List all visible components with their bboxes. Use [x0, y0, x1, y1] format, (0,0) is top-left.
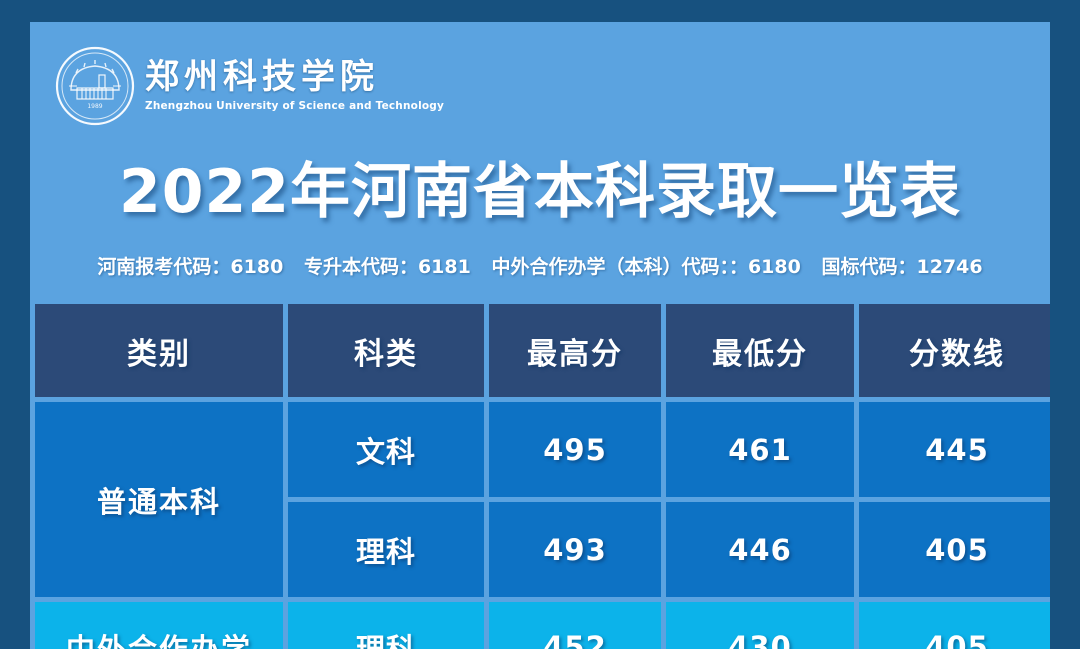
table-header-row: 类别 科类 最高分 最低分 分数线	[35, 304, 1050, 397]
poster-card: 1989 郑州科技学院 Zhengzhou University of Scie…	[30, 22, 1050, 649]
cell-subject: 理科	[288, 602, 484, 649]
brand-block: 1989 郑州科技学院 Zhengzhou University of Scie…	[55, 43, 444, 129]
cell-min-score: 461	[666, 402, 854, 497]
cell-category: 普通本科	[35, 402, 283, 597]
cell-max-score: 495	[489, 402, 661, 497]
page-title: 2022年河南省本科录取一览表	[30, 156, 1050, 228]
cell-min-score: 446	[666, 502, 854, 597]
university-name-en: Zhengzhou University of Science and Tech…	[145, 100, 444, 112]
brand-text: 郑州科技学院 Zhengzhou University of Science a…	[145, 60, 444, 112]
code-item-0: 河南报考代码：6180	[97, 256, 283, 278]
cell-score-line: 405	[859, 602, 1050, 649]
header-score-line: 分数线	[859, 304, 1050, 397]
cell-score-line: 445	[859, 402, 1050, 497]
cell-score-line: 405	[859, 502, 1050, 597]
university-name-cn: 郑州科技学院	[145, 60, 444, 96]
code-item-3: 国标代码：12746	[821, 256, 982, 278]
code-item-1: 专升本代码：6181	[304, 256, 471, 278]
university-seal-icon: 1989	[55, 46, 135, 126]
cell-min-score: 430	[666, 602, 854, 649]
header-max-score: 最高分	[489, 304, 661, 397]
code-item-2: 中外合作办学（本科）代码：：6180	[491, 256, 800, 278]
cell-max-score: 493	[489, 502, 661, 597]
cell-category: 中外合作办学	[35, 602, 283, 649]
admission-score-table: 类别 科类 最高分 最低分 分数线 普通本科 文科 495 461 445 理科	[30, 299, 1050, 649]
admission-codes-line: 河南报考代码：6180 专升本代码：6181 中外合作办学（本科）代码：：618…	[30, 254, 1050, 280]
table-row: 普通本科 文科 495 461 445	[35, 402, 1050, 497]
seal-year-text: 1989	[87, 103, 102, 110]
header-category: 类别	[35, 304, 283, 397]
table-row: 中外合作办学 理科 452 430 405	[35, 602, 1050, 649]
cell-subject: 文科	[288, 402, 484, 497]
cell-subject: 理科	[288, 502, 484, 597]
cell-max-score: 452	[489, 602, 661, 649]
poster-root: 1989 郑州科技学院 Zhengzhou University of Scie…	[0, 0, 1080, 649]
header-min-score: 最低分	[666, 304, 854, 397]
header-subject: 科类	[288, 304, 484, 397]
